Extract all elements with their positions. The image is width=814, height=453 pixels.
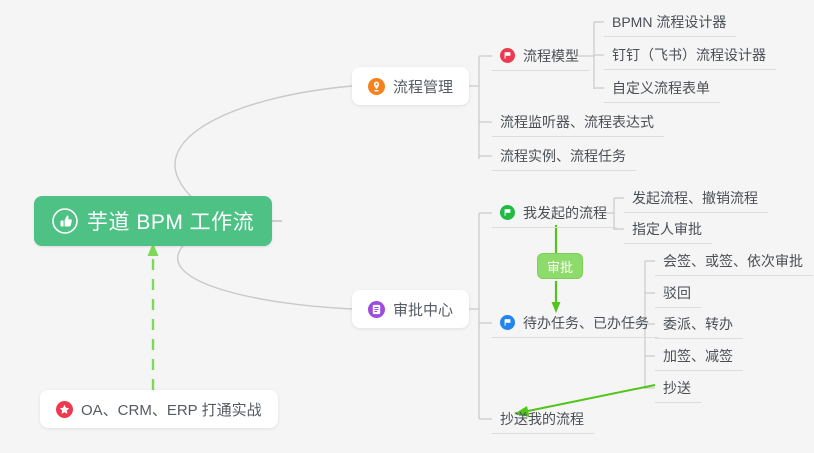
- node-wofaqidliucheng[interactable]: 我发起的流程: [492, 198, 617, 228]
- node-label-listener-expression: 流程监听器、流程表达式: [500, 112, 654, 132]
- annotation-tag-shenpi: 审批: [537, 253, 583, 279]
- node-label-chaosong-wodeliucheng: 抄送我的流程: [500, 409, 584, 429]
- root-label: 芋道 BPM 工作流: [87, 206, 254, 236]
- node-label-huiqian: 会签、或签、依次审批: [663, 251, 803, 271]
- node-bohui[interactable]: 驳回: [655, 278, 701, 308]
- node-label-chaosong: 抄送: [663, 378, 691, 398]
- node-chaosong-wodeliucheng[interactable]: 抄送我的流程: [492, 404, 594, 434]
- arrow-footnote-to-root: [148, 243, 159, 390]
- node-huiqian[interactable]: 会签、或签、依次审批: [655, 246, 813, 276]
- node-listener-expression[interactable]: 流程监听器、流程表达式: [492, 107, 664, 137]
- node-chaosong[interactable]: 抄送: [655, 373, 701, 403]
- node-bpmn-designer[interactable]: BPMN 流程设计器: [604, 7, 736, 37]
- node-label-daibanrenwu: 待办任务、已办任务: [523, 313, 649, 333]
- node-label-wofaqidliucheng: 我发起的流程: [523, 203, 607, 223]
- node-instance-task[interactable]: 流程实例、流程任务: [492, 141, 636, 171]
- document-icon: [368, 301, 385, 318]
- node-label-bohui: 驳回: [663, 283, 691, 303]
- branch-node-shenpizhongxin[interactable]: 审批中心: [352, 290, 469, 328]
- root-node[interactable]: 芋道 BPM 工作流: [34, 196, 272, 246]
- mindmap-canvas: 芋道 BPM 工作流 流程管理 流程模型 BPMN 流程设计器 钉钉（飞书）流: [0, 0, 814, 453]
- node-jiaqian-jianqian[interactable]: 加签、减签: [655, 341, 743, 371]
- flag-icon: [500, 48, 515, 63]
- branch-label-shenpizhongxin: 审批中心: [393, 299, 453, 320]
- node-label-faqi-chexiao: 发起流程、撤销流程: [632, 188, 758, 208]
- node-zhidingren-shenpi[interactable]: 指定人审批: [624, 214, 712, 244]
- footnote-label: OA、CRM、ERP 打通实战: [81, 399, 262, 420]
- node-label-instance-task: 流程实例、流程任务: [500, 146, 626, 166]
- location-pin-icon: [368, 78, 385, 95]
- thumbs-up-icon: [52, 208, 78, 234]
- branch-label-liuchengguanli: 流程管理: [393, 76, 453, 97]
- node-liuchengmoxing[interactable]: 流程模型: [492, 41, 589, 71]
- node-dingding-designer[interactable]: 钉钉（飞书）流程设计器: [604, 40, 776, 70]
- node-weipai-zhuanban[interactable]: 委派、转办: [655, 309, 743, 339]
- footnote-node[interactable]: OA、CRM、ERP 打通实战: [40, 390, 278, 428]
- node-label-dingding-designer: 钉钉（飞书）流程设计器: [612, 45, 766, 65]
- node-label-custom-form: 自定义流程表单: [612, 78, 710, 98]
- flag-icon: [500, 315, 515, 330]
- annotation-label-shenpi: 审批: [547, 257, 573, 276]
- star-icon: [56, 401, 73, 418]
- node-daibanrenwu[interactable]: 待办任务、已办任务: [492, 308, 659, 338]
- branch-node-liuchengguanli[interactable]: 流程管理: [352, 67, 469, 105]
- node-custom-form[interactable]: 自定义流程表单: [604, 73, 720, 103]
- node-label-bpmn-designer: BPMN 流程设计器: [612, 12, 726, 32]
- node-label-jiaqian-jianqian: 加签、减签: [663, 346, 733, 366]
- node-label-weipai-zhuanban: 委派、转办: [663, 314, 733, 334]
- node-label-liuchengmoxing: 流程模型: [523, 46, 579, 66]
- node-faqi-chexiao[interactable]: 发起流程、撤销流程: [624, 183, 768, 213]
- node-label-zhidingren-shenpi: 指定人审批: [632, 219, 702, 239]
- flag-icon: [500, 205, 515, 220]
